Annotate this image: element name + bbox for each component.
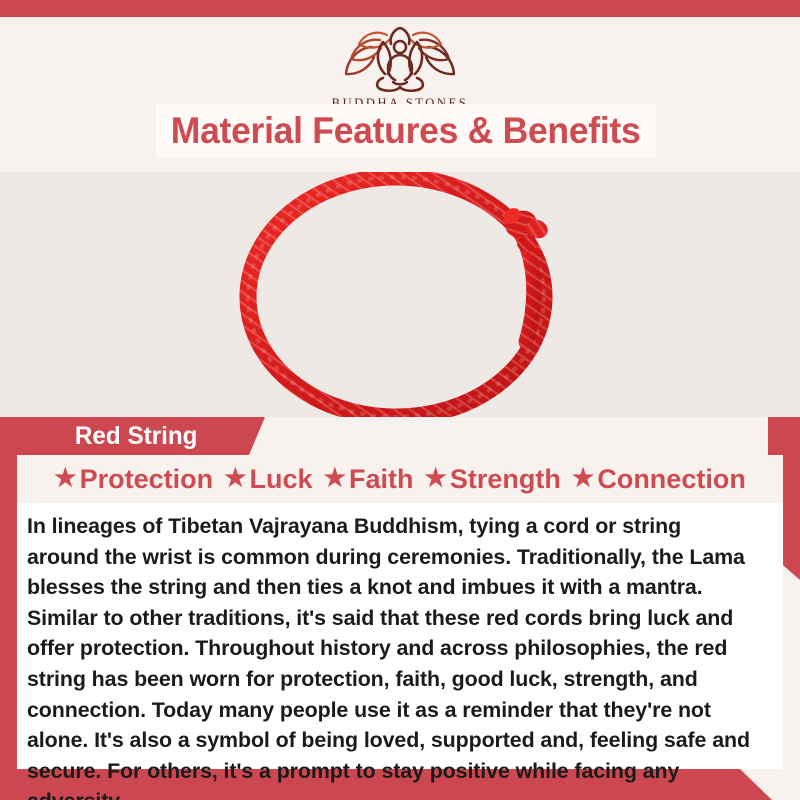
description-card: In lineages of Tibetan Vajrayana Buddhis… xyxy=(17,503,783,769)
description-paragraph: In lineages of Tibetan Vajrayana Buddhis… xyxy=(27,511,757,800)
star-icon: ★ xyxy=(572,466,594,491)
feature-item: ★ Connection xyxy=(568,464,750,495)
feature-label: Strength xyxy=(450,464,561,495)
star-icon: ★ xyxy=(324,466,346,491)
star-icon: ★ xyxy=(224,466,246,491)
feature-label: Luck xyxy=(250,464,313,495)
feature-item: ★ Faith xyxy=(320,464,418,495)
product-photo xyxy=(0,172,800,417)
bracelet-knot xyxy=(501,205,551,254)
feature-item: ★ Strength xyxy=(420,464,564,495)
features-list: ★ Protection ★ Luck ★ Faith ★ Strength ★… xyxy=(17,455,783,503)
title-banner: Material Features & Benefits xyxy=(156,104,656,158)
feature-item: ★ Protection xyxy=(50,464,217,495)
lotus-meditation-icon xyxy=(0,22,800,94)
feature-label: Faith xyxy=(349,464,414,495)
infographic-poster: BUDDHA STONES Material Features & Benefi… xyxy=(0,0,800,800)
product-label: Red String xyxy=(75,422,198,451)
star-icon: ★ xyxy=(54,466,76,491)
product-label-banner: Red String xyxy=(17,417,265,455)
top-accent-bar xyxy=(0,0,800,17)
star-icon: ★ xyxy=(424,466,446,491)
feature-item: ★ Luck xyxy=(220,464,316,495)
page-title: Material Features & Benefits xyxy=(171,110,641,152)
red-string-bracelet-illustration xyxy=(0,172,800,417)
left-lower-accent-bar xyxy=(0,419,17,769)
feature-label: Protection xyxy=(80,464,214,495)
feature-label: Connection xyxy=(597,464,746,495)
brand-logo: BUDDHA STONES xyxy=(0,17,800,111)
